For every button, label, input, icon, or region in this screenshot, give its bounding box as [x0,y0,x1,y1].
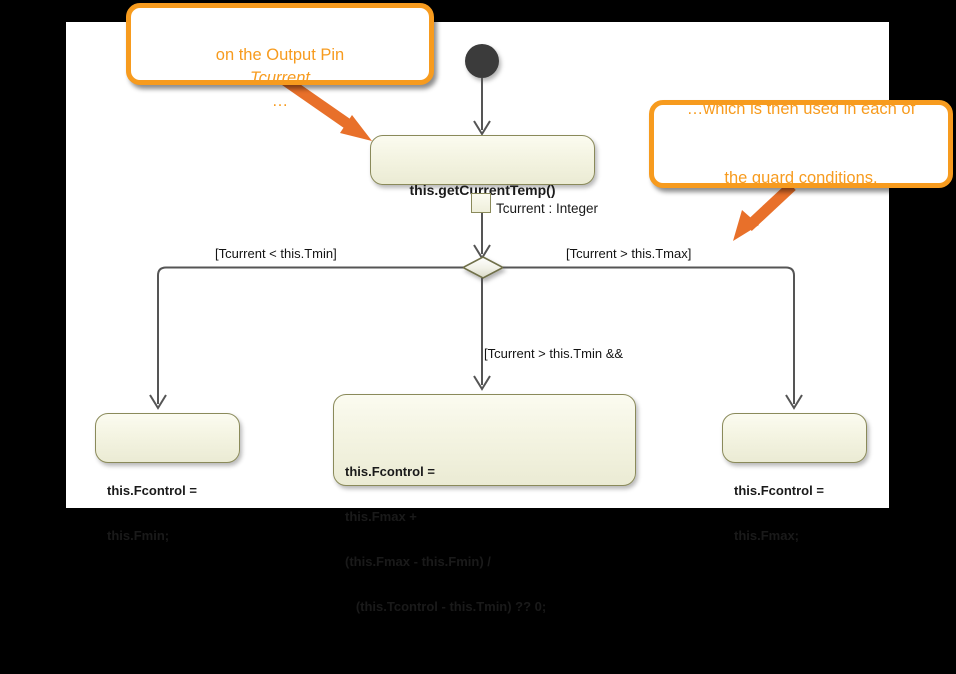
callout-output-pin-line2-prefix: on the Output Pin [169,44,391,67]
action-node-fmin-line1: this.Fcontrol = [107,483,239,498]
guard-condition-right: [Tcurrent > this.Tmax] [566,246,691,262]
callout-output-pin-line2-italic: Tcurrent [169,67,391,90]
callout-guards-line2: the guard conditions. [687,167,915,190]
action-node-fmax-line1: this.Fcontrol = [734,483,866,498]
action-node-get-current-temp[interactable]: this.getCurrentTemp() [370,135,595,185]
callout-guards: …which is then used in each of the guard… [649,100,953,188]
callout-output-pin-line2-suffix: … [169,90,391,113]
action-node-fmid-line1: this.Fcontrol = [345,464,635,479]
action-node-set-fcontrol-interpolated[interactable]: this.Fcontrol = this.Fmax + (this.Fmax -… [333,394,636,486]
action-node-fmid-text: this.Fcontrol = this.Fmax + (this.Fmax -… [334,425,635,644]
action-node-set-fcontrol-fmin[interactable]: this.Fcontrol = this.Fmin; [95,413,240,463]
action-node-fmin-text: this.Fcontrol = this.Fmin; [96,444,239,573]
action-node-fmid-line3: (this.Fmax - this.Fmin) / [345,554,635,569]
action-node-fmid-line2: this.Fmax + [345,509,635,524]
action-node-set-fcontrol-fmax[interactable]: this.Fcontrol = this.Fmax; [722,413,867,463]
action-node-fmin-line2: this.Fmin; [107,528,239,543]
guard-condition-middle-line1: [Tcurrent > this.Tmin && [484,346,623,362]
callout-guards-text: …which is then used in each of the guard… [687,75,915,213]
callout-output-pin: The current temperature is put on the Ou… [126,3,434,85]
output-pin-label: Tcurrent : Integer [496,201,598,216]
action-node-fmax-line2: this.Fmax; [734,528,866,543]
screenshot-stage: this.getCurrentTemp() Tcurrent : Integer… [0,0,956,508]
callout-guards-line1: …which is then used in each of [687,98,915,121]
guard-condition-left: [Tcurrent < this.Tmin] [215,246,337,262]
output-pin[interactable] [471,193,491,213]
action-node-fmax-text: this.Fcontrol = this.Fmax; [723,444,866,573]
action-node-fmid-line4: (this.Tcontrol - this.Tmin) ?? 0; [345,599,635,614]
callout-output-pin-text: The current temperature is put on the Ou… [169,0,391,136]
